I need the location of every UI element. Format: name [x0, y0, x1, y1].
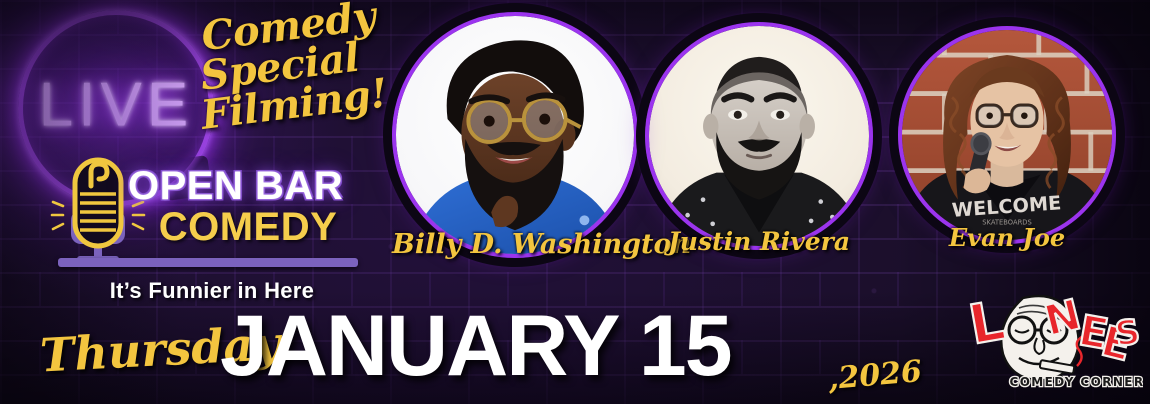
venue-logo-subtitle: COMEDY CORNER: [1009, 375, 1143, 389]
performer-portrait: WELCOME SKATEBOARDS Evan Joe: [898, 26, 1116, 244]
event-promo-banner: LIVE Comedy Special Filming!: [0, 0, 1150, 404]
open-bar-comedy-logo: OPEN BAR COMEDY: [128, 166, 368, 248]
event-date: JANUARY 15: [220, 303, 731, 389]
performer-name: Evan Joe: [898, 223, 1116, 252]
performer-name: Justin Rivera: [645, 227, 873, 256]
performer-name: Billy D. Washington: [392, 229, 638, 260]
logo-line-comedy: COMEDY: [128, 206, 368, 248]
svg-text:L: L: [965, 289, 1009, 357]
performer-photo: [649, 26, 869, 246]
comedy-special-filming-headline: Comedy Special Filming!: [190, 0, 389, 135]
performer-photo: WELCOME SKATEBOARDS: [902, 30, 1112, 240]
svg-text:S: S: [1113, 312, 1143, 355]
performer-portrait: Billy D. Washington: [392, 12, 638, 258]
venue-logo: L N E E S COMEDY CORNER: [965, 288, 1143, 400]
performer-photo: [396, 16, 634, 254]
performer-portrait: Justin Rivera: [645, 22, 873, 250]
logo-line-open-bar: OPEN BAR: [128, 166, 368, 206]
logo-divider-bar: [58, 258, 358, 267]
